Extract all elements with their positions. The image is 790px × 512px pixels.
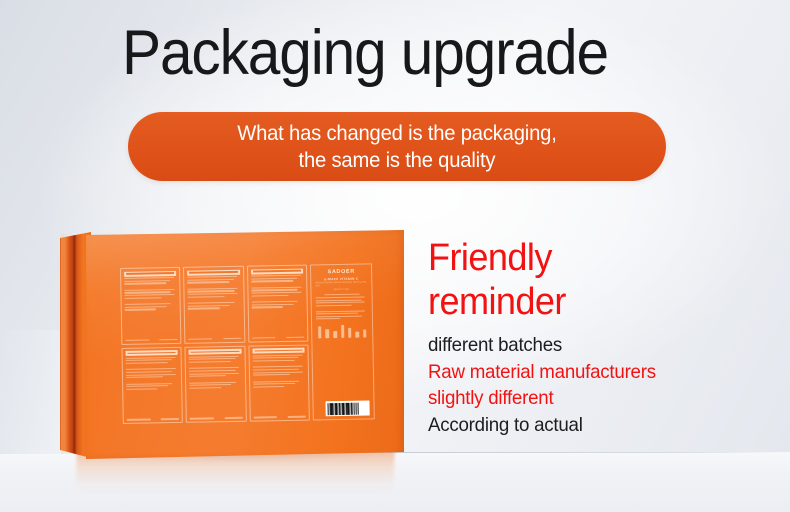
bottle-icon — [318, 327, 321, 339]
jar-icon — [333, 331, 337, 338]
divider — [324, 294, 359, 295]
tagline-line-1: What has changed is the packaging, — [237, 121, 556, 145]
cream-jar-icon — [355, 332, 359, 338]
product-subtitle: BEAUTY SET — [334, 288, 350, 292]
product-box-printed-panels: SADOER E-MAXX VITAMIN C BRIGHTENING MOIS… — [120, 263, 375, 424]
page-title: Packaging upgrade — [122, 18, 608, 88]
reminder-note-2: Raw material manufacturers — [428, 359, 716, 386]
reminder-note-3: slightly different — [428, 385, 716, 412]
box-panel — [120, 267, 182, 345]
dropper-icon — [348, 328, 351, 338]
box-panel — [247, 265, 309, 343]
tagline-line-2: the same is the quality — [237, 147, 556, 174]
box-panel — [183, 266, 245, 344]
promo-banner-image: Packaging upgrade What has changed is th… — [0, 0, 790, 512]
tube-icon — [326, 329, 330, 338]
reminder-headline-line-1: Friendly — [428, 237, 552, 279]
box-brand-panel: SADOER E-MAXX VITAMIN C BRIGHTENING MOIS… — [310, 263, 375, 420]
box-panel-header — [124, 270, 177, 276]
box-panel-header — [187, 269, 240, 275]
pump-bottle-icon — [341, 325, 344, 338]
reminder-block: Friendly reminder different batches Raw … — [428, 236, 728, 438]
tagline-banner: What has changed is the packaging, the s… — [128, 112, 666, 181]
reminder-headline: Friendly reminder — [428, 236, 713, 324]
brand-name: SADOER — [328, 269, 355, 276]
tagline-text: What has changed is the packaging, the s… — [237, 120, 556, 174]
barcode — [325, 400, 369, 416]
box-panel-header — [252, 348, 305, 354]
product-box-spine-highlight — [61, 234, 69, 454]
reminder-note-4: According to actual — [428, 412, 716, 439]
box-panel-header — [189, 349, 242, 355]
reminder-headline-line-2: reminder — [428, 280, 713, 324]
box-panel-header — [126, 350, 179, 356]
product-pictograms — [316, 322, 368, 339]
reminder-note-1: different batches — [428, 332, 716, 359]
box-panel — [121, 346, 183, 424]
box-panel — [185, 345, 247, 423]
sachet-icon — [363, 330, 366, 338]
box-panel-header — [251, 268, 304, 274]
box-panel — [248, 344, 310, 422]
product-box-image: SADOER E-MAXX VITAMIN C BRIGHTENING MOIS… — [58, 222, 424, 490]
